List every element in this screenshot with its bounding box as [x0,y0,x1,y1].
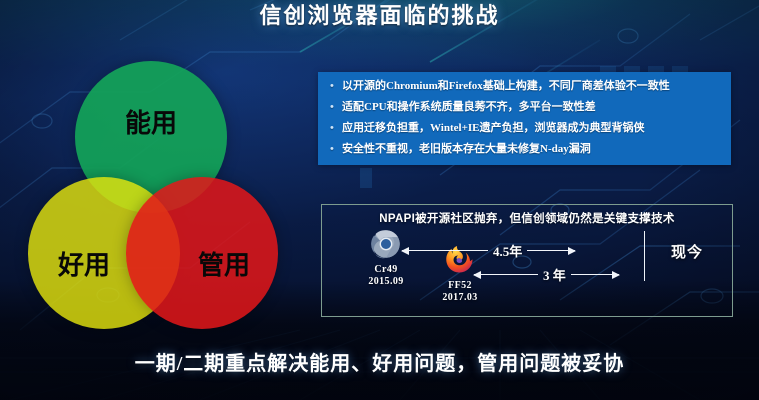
list-item: • 应用迁移负担重，Wintel+IE遗产负担，浏览器成为典型背锅侠 [318,118,731,139]
venn-circle-guanyong: 管用 [126,177,278,329]
bullet-icon: • [330,97,342,118]
venn-label-haoyong: 好用 [58,245,110,282]
chrome-icon [371,229,401,259]
arrow-right-icon [571,274,619,275]
list-item: • 适配CPU和操作系统质量良莠不齐，多平台一致性差 [318,97,731,118]
venn-diagram: 能用 好用 管用 [0,55,300,345]
duration-label: 4.5年 [488,241,527,260]
npapi-title: NPAPI被开源社区抛弃，但信创领域仍然是关键支撑技术 [322,210,732,226]
timeline-now-marker [644,231,645,281]
arrow-right-icon [527,250,575,251]
arrow-left-icon [402,250,488,251]
challenges-panel: • 以开源的Chromium和Firefox基础上构建，不同厂商差体验不一致性 … [318,72,731,165]
arrow-left-icon [474,274,538,275]
duration-label: 3 年 [538,265,571,284]
challenge-text: 应用迁移负担重，Wintel+IE遗产负担，浏览器成为典型背锅侠 [342,118,644,139]
bullet-icon: • [330,118,342,139]
venn-label-nengyong: 能用 [125,103,177,140]
challenge-text: 安全性不重视，老旧版本存在大量未修复N-day漏洞 [342,139,591,160]
duration-row-chrome: 4.5年 [402,241,575,260]
page-title: 信创浏览器面临的挑战 [0,1,759,31]
footer-conclusion: 一期/二期重点解决能用、好用问题，管用问题被妥协 [0,347,759,376]
bullet-icon: • [330,76,342,97]
npapi-panel: NPAPI被开源社区抛弃，但信创领域仍然是关键支撑技术 Cr49 2015.09 [321,204,733,317]
challenge-text: 以开源的Chromium和Firefox基础上构建，不同厂商差体验不一致性 [342,76,670,97]
slide-root: 信创浏览器面临的挑战 能用 好用 管用 • 以开源的Chromium和Firef… [0,0,759,400]
bullet-icon: • [330,139,342,160]
browser-date: 2017.03 [432,292,488,304]
browser-date: 2015.09 [358,276,414,288]
challenge-text: 适配CPU和操作系统质量良莠不齐，多平台一致性差 [342,97,596,118]
list-item: • 以开源的Chromium和Firefox基础上构建，不同厂商差体验不一致性 [318,76,731,97]
list-item: • 安全性不重视，老旧版本存在大量未修复N-day漏洞 [318,139,731,160]
duration-row-firefox: 3 年 [474,265,619,284]
timeline-now-label: 现今 [652,241,722,262]
challenges-list: • 以开源的Chromium和Firefox基础上构建，不同厂商差体验不一致性 … [318,76,731,160]
browser-name: Cr49 [358,264,414,276]
venn-label-guanyong: 管用 [198,245,250,282]
